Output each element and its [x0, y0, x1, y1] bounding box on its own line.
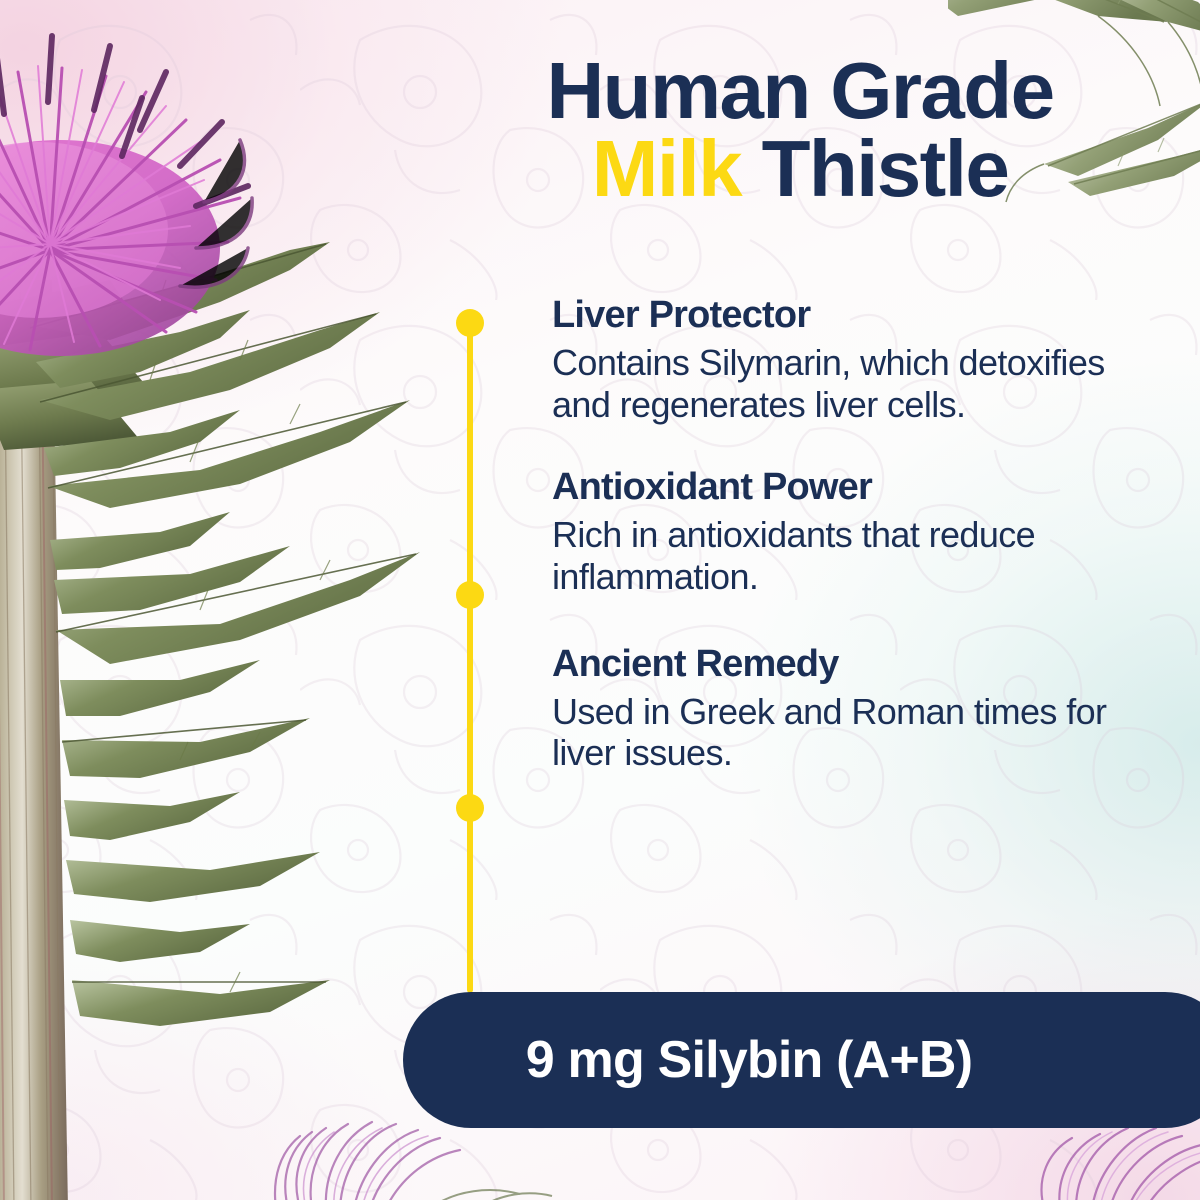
milk-thistle-plant-image: [0, 0, 420, 1200]
title-accent-word: Milk: [592, 124, 741, 213]
benefit-title: Antioxidant Power: [552, 468, 1132, 508]
benefit-description: Used in Greek and Roman times for liver …: [552, 691, 1132, 775]
benefits-list: Liver Protector Contains Silymarin, whic…: [552, 296, 1132, 774]
dosage-badge-label: 9 mg Silybin (A+B): [403, 992, 1095, 1128]
page-title: Human Grade Milk Thistle: [400, 52, 1200, 209]
title-line-2-rest: Thistle: [741, 124, 1008, 213]
timeline-rail: [467, 323, 473, 993]
timeline-dot-3: [456, 794, 484, 822]
timeline-dot-2: [456, 581, 484, 609]
benefit-description: Contains Silymarin, which detoxifies and…: [552, 342, 1132, 426]
benefit-title: Liver Protector: [552, 296, 1132, 336]
benefit-item-ancient-remedy: Ancient Remedy Used in Greek and Roman t…: [552, 645, 1132, 774]
benefit-item-liver-protector: Liver Protector Contains Silymarin, whic…: [552, 296, 1132, 425]
title-line-1: Human Grade: [400, 52, 1200, 130]
title-line-2: Milk Thistle: [400, 130, 1200, 208]
benefit-description: Rich in antioxidants that reduce inflamm…: [552, 514, 1132, 598]
infographic-canvas: Human Grade Milk Thistle Liver Protector…: [0, 0, 1200, 1200]
dosage-badge: 9 mg Silybin (A+B): [403, 992, 1200, 1128]
benefit-title: Ancient Remedy: [552, 645, 1132, 685]
benefit-item-antioxidant-power: Antioxidant Power Rich in antioxidants t…: [552, 468, 1132, 597]
timeline-dot-1: [456, 309, 484, 337]
